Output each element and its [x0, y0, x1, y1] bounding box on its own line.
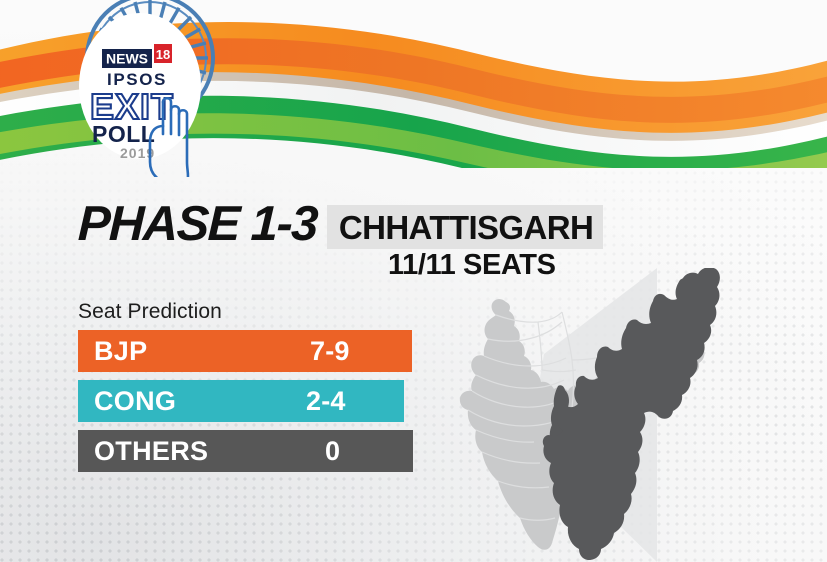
party-bar-others: OTHERS 0	[78, 430, 413, 472]
state-name: CHHATTISGARH	[339, 211, 593, 244]
news-wordmark-text: NEWS	[106, 51, 148, 67]
phase-title: PHASE 1-3	[77, 200, 318, 249]
seat-prediction-label: Seat Prediction	[78, 300, 222, 324]
party-seats-cong: 2-4	[306, 386, 346, 417]
exit-poll-graphic: NEWS 18 IPSOS EXIT POLL 2019 PHASE 1-3 C…	[0, 0, 827, 562]
party-seats-others: 0	[325, 436, 340, 467]
party-bar-bjp: BJP 7-9	[78, 330, 412, 372]
state-name-band: CHHATTISGARH	[327, 205, 603, 249]
map-illustration	[452, 268, 827, 562]
seat-prediction-bars: BJP 7-9 CONG 2-4 OTHERS 0	[78, 330, 413, 480]
party-bar-cong: CONG 2-4	[78, 380, 404, 422]
news18-ipsos-exit-poll-logo[interactable]: NEWS 18 IPSOS EXIT POLL 2019	[68, 2, 228, 177]
eighteen-badge-text: 18	[156, 47, 170, 62]
party-seats-bjp: 7-9	[310, 336, 350, 367]
party-name-bjp: BJP	[94, 336, 147, 367]
party-name-cong: CONG	[94, 386, 176, 417]
party-name-others: OTHERS	[94, 436, 208, 467]
poll-text: POLL	[92, 121, 155, 147]
headline-row: PHASE 1-3 CHHATTISGARH	[78, 200, 603, 249]
